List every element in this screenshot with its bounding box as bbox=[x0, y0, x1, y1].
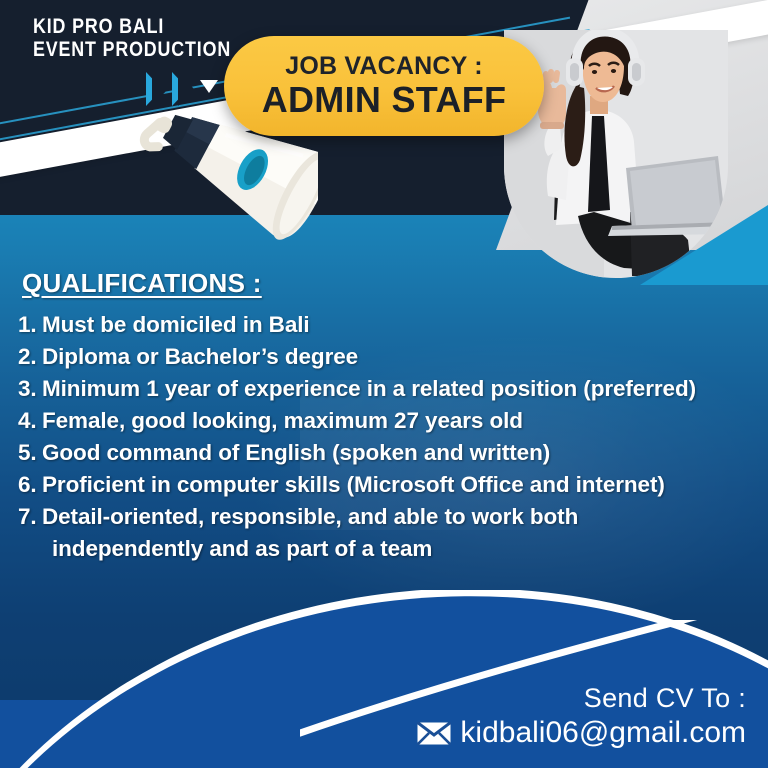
list-item-text-line2: independently and as part of a team bbox=[42, 533, 758, 565]
list-item-number: 1. bbox=[18, 309, 42, 341]
list-item: 6. Proficient in computer skills (Micros… bbox=[18, 469, 758, 501]
job-title: ADMIN STAFF bbox=[262, 81, 507, 119]
list-item-number: 4. bbox=[18, 405, 42, 437]
list-item-text: Good command of English (spoken and writ… bbox=[42, 437, 758, 469]
send-cv-label: Send CV To : bbox=[417, 683, 746, 714]
qualifications-heading: QUALIFICATIONS : bbox=[22, 268, 758, 299]
list-item-text: Diploma or Bachelor’s degree bbox=[42, 341, 758, 373]
list-item-number: 6. bbox=[18, 469, 42, 501]
brand-logo: KID PRO BALI EVENT PRODUCTION bbox=[33, 16, 266, 61]
job-title-badge: JOB VACANCY : ADMIN STAFF bbox=[224, 36, 544, 136]
list-item-text-line1: Detail-oriented, responsible, and able t… bbox=[42, 504, 578, 529]
chevron-right-icon-inner bbox=[152, 72, 168, 106]
list-item: 4. Female, good looking, maximum 27 year… bbox=[18, 405, 758, 437]
list-item-text: Female, good looking, maximum 27 years o… bbox=[42, 405, 758, 437]
list-item: 2. Diploma or Bachelor’s degree bbox=[18, 341, 758, 373]
list-item: 1. Must be domiciled in Bali bbox=[18, 309, 758, 341]
vacancy-label: JOB VACANCY : bbox=[285, 53, 483, 79]
list-item-number: 3. bbox=[18, 373, 42, 405]
chevron-right-icon-inner bbox=[178, 72, 194, 106]
list-item-text: Minimum 1 year of experience in a relate… bbox=[42, 373, 758, 405]
triangle-accent-icon bbox=[200, 80, 218, 93]
contact-footer: Send CV To : kidbali06@gmail.com bbox=[417, 683, 746, 750]
list-item: 7. Detail-oriented, responsible, and abl… bbox=[18, 501, 758, 565]
brand-logo-line1: KID PRO BALI bbox=[33, 16, 231, 39]
list-item-number: 5. bbox=[18, 437, 42, 469]
list-item-text: Proficient in computer skills (Microsoft… bbox=[42, 469, 758, 501]
job-vacancy-poster: KID PRO BALI EVENT PRODUCTION JOB VACANC… bbox=[0, 0, 768, 768]
list-item-number: 2. bbox=[18, 341, 42, 373]
email-address[interactable]: kidbali06@gmail.com bbox=[460, 716, 746, 750]
email-row[interactable]: kidbali06@gmail.com bbox=[417, 716, 746, 750]
list-item: 5. Good command of English (spoken and w… bbox=[18, 437, 758, 469]
list-item-text: Detail-oriented, responsible, and able t… bbox=[42, 501, 758, 565]
brand-logo-line2: EVENT PRODUCTION bbox=[33, 39, 231, 62]
qualifications-list: 1. Must be domiciled in Bali 2. Diploma … bbox=[18, 309, 758, 565]
list-item-number: 7. bbox=[18, 501, 42, 565]
envelope-icon bbox=[417, 722, 451, 745]
list-item: 3. Minimum 1 year of experience in a rel… bbox=[18, 373, 758, 405]
qualifications-section: QUALIFICATIONS : 1. Must be domiciled in… bbox=[18, 268, 758, 565]
list-item-text: Must be domiciled in Bali bbox=[42, 309, 758, 341]
